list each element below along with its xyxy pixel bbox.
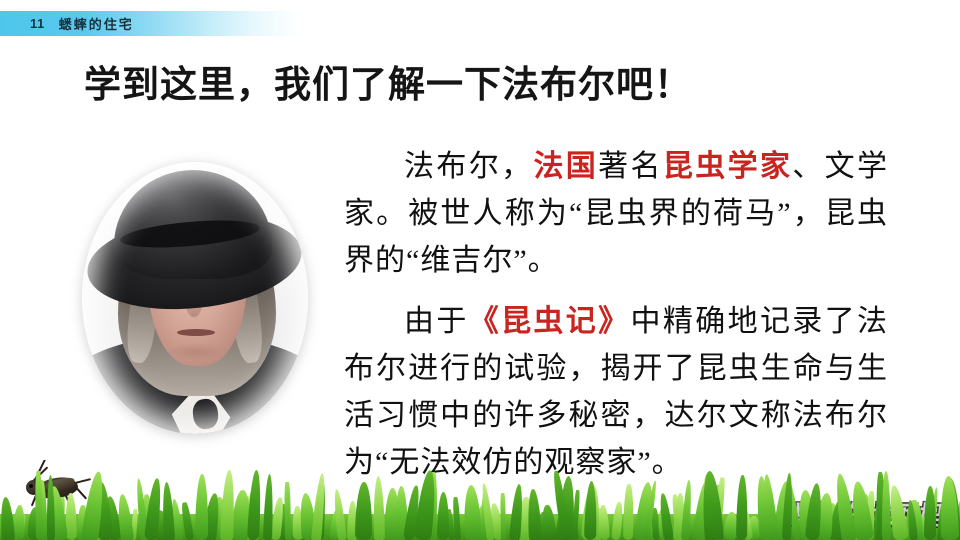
text-run-2: 《昆虫记》 [469, 305, 631, 338]
text-run-3: 著名 [598, 150, 663, 183]
grass-blade [463, 485, 483, 540]
portrait-chin-shadow [168, 342, 225, 361]
header-label-group: 11 蟋蟀的住宅 [0, 11, 134, 36]
cricket-eye [29, 484, 33, 488]
grass-blade [527, 489, 542, 540]
grass-blade [0, 497, 15, 540]
grass-blade [623, 484, 634, 540]
cricket-cerci [75, 478, 91, 484]
slide-canvas: 11 蟋蟀的住宅 学到这里，我们了解一下法布尔吧！ [0, 0, 960, 540]
grass-blade [540, 504, 557, 540]
text-run-1: 法布尔， [404, 150, 533, 183]
text-run-2: 法国 [533, 150, 598, 183]
body-text-block: 法布尔，法国著名昆虫学家、文学家。被世人称为“昆虫界的荷马”，昆虫界的“维吉尔”… [344, 143, 888, 486]
text-run-1: 由于 [404, 305, 469, 338]
grass-blade [939, 475, 959, 540]
grass-decoration [0, 460, 960, 540]
lesson-title: 蟋蟀的住宅 [59, 14, 134, 33]
grass-blade [355, 482, 372, 540]
grass-blade [598, 504, 611, 540]
grass-blade [195, 474, 208, 540]
grass-blade [500, 493, 506, 540]
paragraph-2: 由于《昆虫记》中精确地记录了法布尔进行的试验，揭开了昆虫生命与生活习惯中的许多秘… [344, 298, 888, 486]
page-title: 学到这里，我们了解一下法布尔吧！ [84, 62, 692, 108]
lesson-number: 11 [30, 16, 45, 31]
grass-blade [881, 471, 890, 540]
grass-blade [284, 482, 291, 540]
grass-blade [924, 486, 936, 540]
paragraph-1: 法布尔，法国著名昆虫学家、文学家。被世人称为“昆虫界的荷马”，昆虫界的“维吉尔”… [344, 143, 888, 284]
grass-blade [437, 491, 449, 540]
fabre-portrait [82, 162, 308, 434]
grass-blade [373, 476, 386, 540]
portrait-artwork [82, 162, 308, 434]
grass-blade [736, 474, 748, 540]
text-run-4: 昆虫学家 [663, 150, 792, 183]
